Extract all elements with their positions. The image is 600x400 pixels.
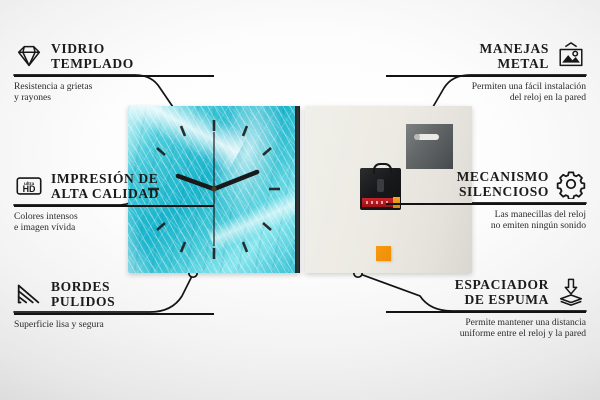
diamond-icon [14, 41, 44, 71]
feature-header: BORDES PULIDOS [14, 278, 214, 310]
feature-rule [386, 203, 586, 205]
feature-subtitle: Colores intensos e imagen vívida [14, 211, 214, 234]
feature-subtitle: Permiten una fácil instalación del reloj… [386, 81, 586, 104]
feature-vidrio-templado: VIDRIO TEMPLADO Resistencia a grietas y … [14, 40, 214, 104]
feature-manejas-metal: MANEJAS METAL Permiten una fácil instala… [386, 40, 586, 104]
feature-header: VIDRIO TEMPLADO [14, 40, 214, 72]
polished-edges-icon [14, 279, 44, 309]
glass-edge [295, 106, 300, 273]
feature-impresion-alta-calidad: ultra HD IMPRESIÓN DE ALTA CALIDAD Color… [14, 170, 214, 234]
feature-title: VIDRIO TEMPLADO [51, 41, 134, 71]
mechanism-shaft [377, 179, 384, 192]
feature-header: ultra HD IMPRESIÓN DE ALTA CALIDAD [14, 170, 214, 202]
feature-subtitle: Resistencia a grietas y rayones [14, 81, 214, 104]
feature-rule [386, 75, 586, 77]
feature-title: MECANISMO SILENCIOSO [457, 169, 549, 199]
feature-subtitle: Las manecillas del reloj no emiten ningú… [386, 209, 586, 232]
gear-icon [556, 169, 586, 199]
feature-rule [386, 311, 586, 313]
ultra-hd-icon-bottom-label: HD [23, 184, 36, 194]
feature-header: MECANISMO SILENCIOSO [386, 168, 586, 200]
minute-hand [214, 172, 257, 189]
hour-marker [243, 242, 247, 252]
hour-marker [181, 242, 185, 252]
feature-title: IMPRESIÓN DE ALTA CALIDAD [51, 171, 159, 201]
hour-marker [181, 126, 185, 136]
foam-spacer-icon [556, 277, 586, 307]
product-infographic: VIDRIO TEMPLADO Resistencia a grietas y … [0, 0, 600, 400]
ultra-hd-icon: ultra HD [14, 171, 44, 201]
feature-rule [14, 205, 214, 207]
picture-hanger-icon [556, 41, 586, 71]
feature-rule [14, 75, 214, 77]
feature-mecanismo-silencioso: MECANISMO SILENCIOSO Las manecillas del … [386, 168, 586, 232]
hour-marker [157, 148, 165, 155]
feature-title: BORDES PULIDOS [51, 279, 115, 309]
hanger-slot [417, 134, 439, 140]
feature-espaciador-espuma: ESPACIADOR DE ESPUMA Permite mantener un… [386, 276, 586, 340]
hour-marker [263, 148, 271, 155]
feature-header: MANEJAS METAL [386, 40, 586, 72]
foam-spacer-pad [376, 246, 391, 261]
feature-title: MANEJAS METAL [480, 41, 549, 71]
feature-rule [14, 313, 214, 315]
feature-bordes-pulidos: BORDES PULIDOS Superficie lisa y segura [14, 278, 214, 330]
hanger-hole [414, 134, 420, 140]
feature-header: ESPACIADOR DE ESPUMA [386, 276, 586, 308]
hour-marker [263, 223, 271, 230]
feature-title: ESPACIADOR DE ESPUMA [455, 277, 549, 307]
feature-subtitle: Superficie lisa y segura [14, 319, 214, 331]
hour-marker [243, 126, 247, 136]
feature-subtitle: Permite mantener una distancia uniforme … [386, 317, 586, 340]
metal-hanger-plate [406, 124, 453, 169]
